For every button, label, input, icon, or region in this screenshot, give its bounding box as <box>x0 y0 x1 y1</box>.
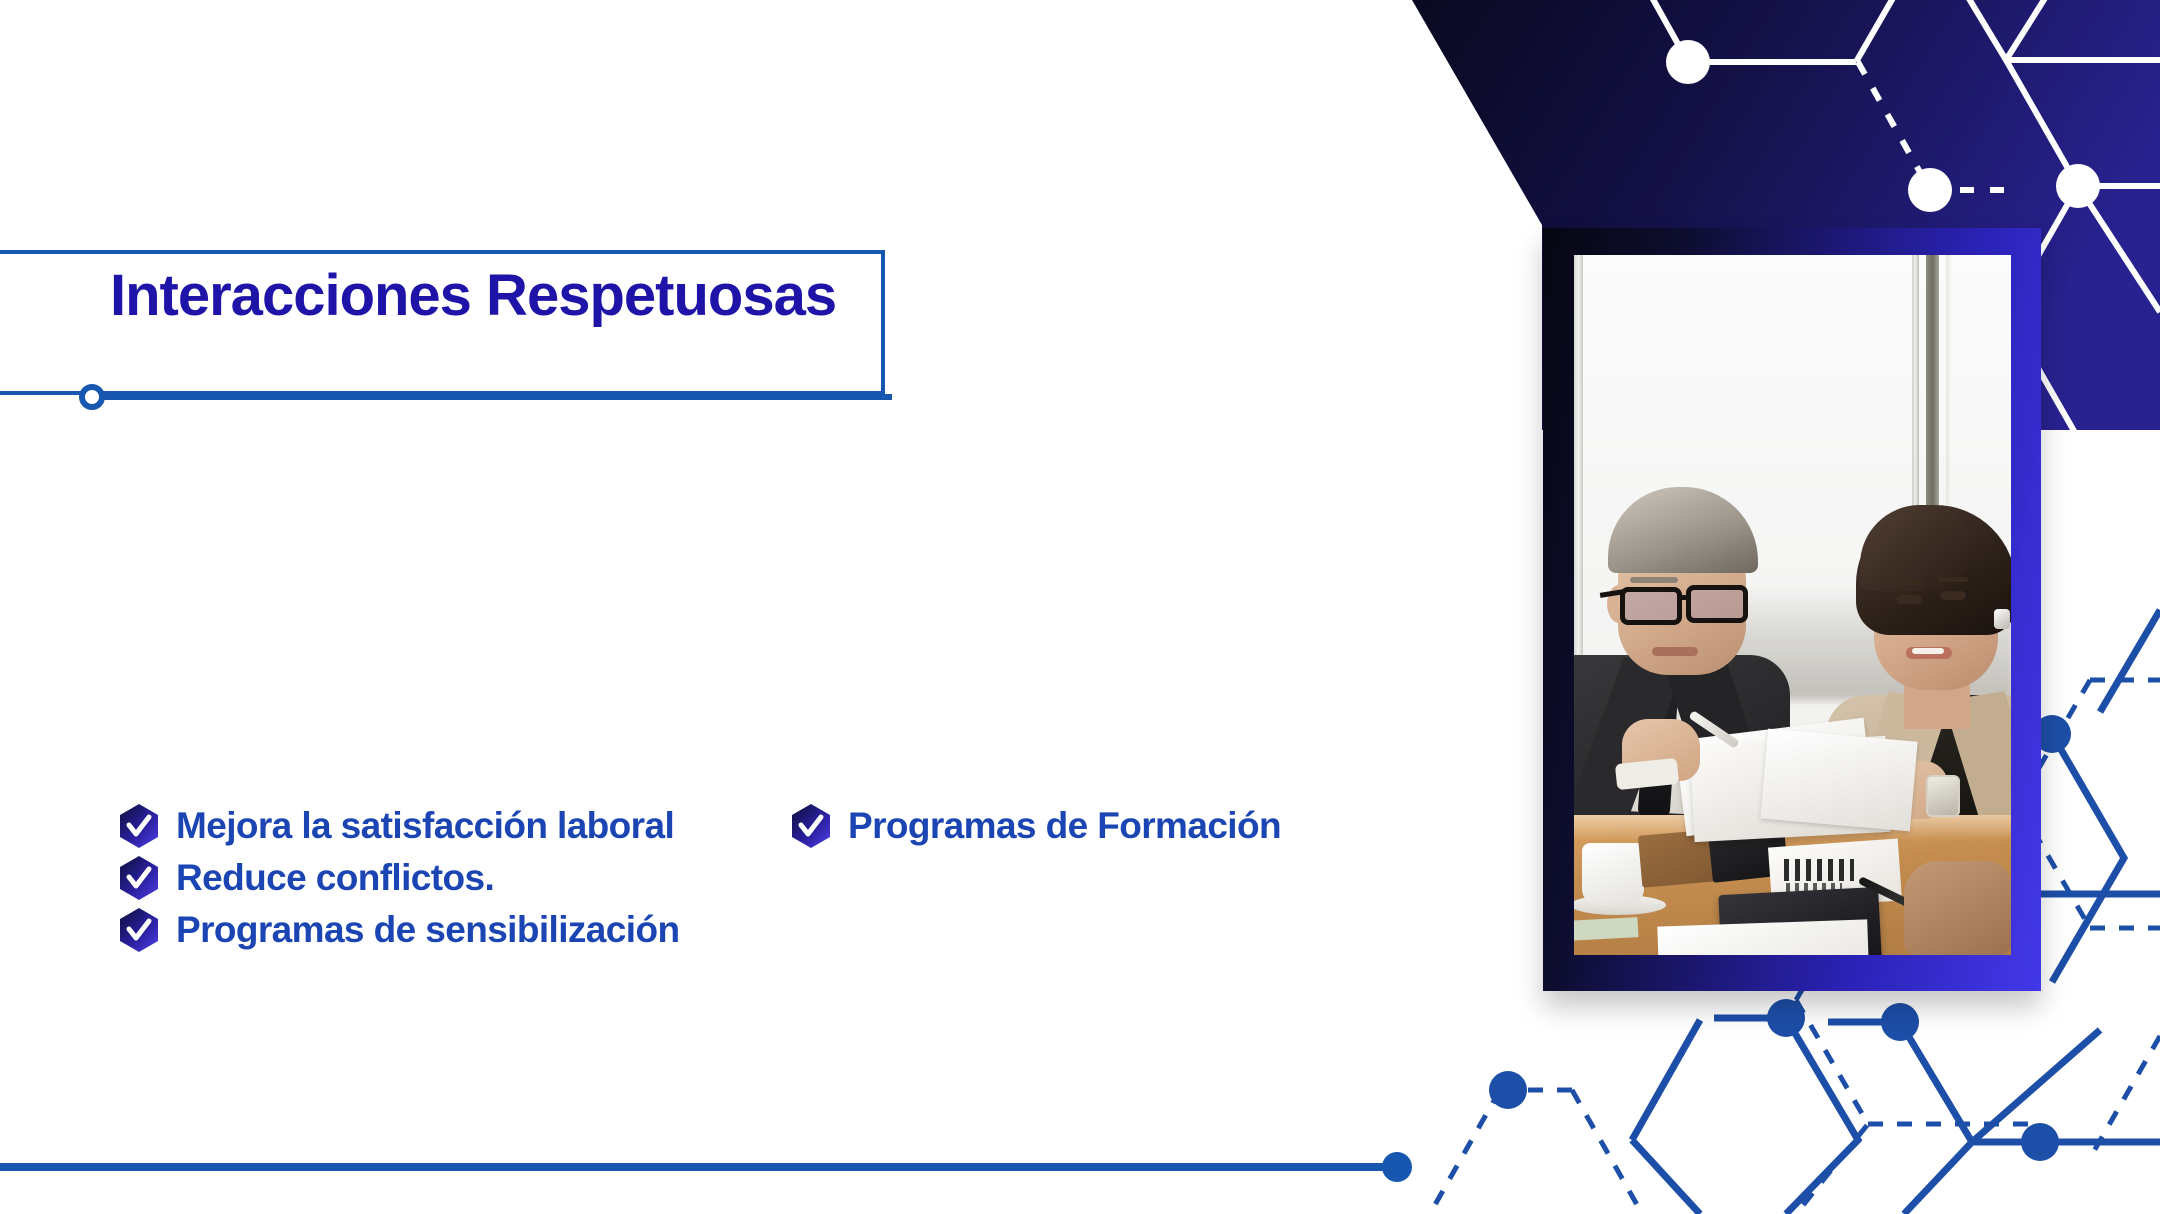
title-rule-circle-icon <box>79 384 105 410</box>
slide-canvas: Interacciones Respetuosas Me <box>0 0 2160 1214</box>
hexagon-check-icon <box>118 855 160 901</box>
hexagon-check-icon <box>118 907 160 953</box>
bullet-list-left: Mejora la satisfacción laboral Reduce co… <box>118 800 679 956</box>
list-item[interactable]: Programas de sensibilización <box>118 904 679 956</box>
list-item[interactable]: Reduce conflictos. <box>118 852 679 904</box>
bottom-rule <box>0 1163 1400 1171</box>
list-item-label: Reduce conflictos. <box>176 857 494 899</box>
hexagon-check-icon <box>790 803 832 849</box>
hexagon-check-icon <box>118 803 160 849</box>
title-underline-rule <box>92 394 892 400</box>
photo-frame <box>1543 228 2041 991</box>
list-item-label: Programas de sensibilización <box>176 909 679 951</box>
meeting-photo <box>1574 255 2011 955</box>
list-item[interactable]: Programas de Formación <box>790 800 1281 852</box>
list-item-label: Programas de Formación <box>848 805 1281 847</box>
page-title: Interacciones Respetuosas <box>110 264 900 328</box>
list-item-label: Mejora la satisfacción laboral <box>176 805 674 847</box>
list-item[interactable]: Mejora la satisfacción laboral <box>118 800 679 852</box>
bottom-rule-dot-icon <box>1382 1152 1412 1182</box>
bullet-list-right: Programas de Formación <box>790 800 1281 852</box>
